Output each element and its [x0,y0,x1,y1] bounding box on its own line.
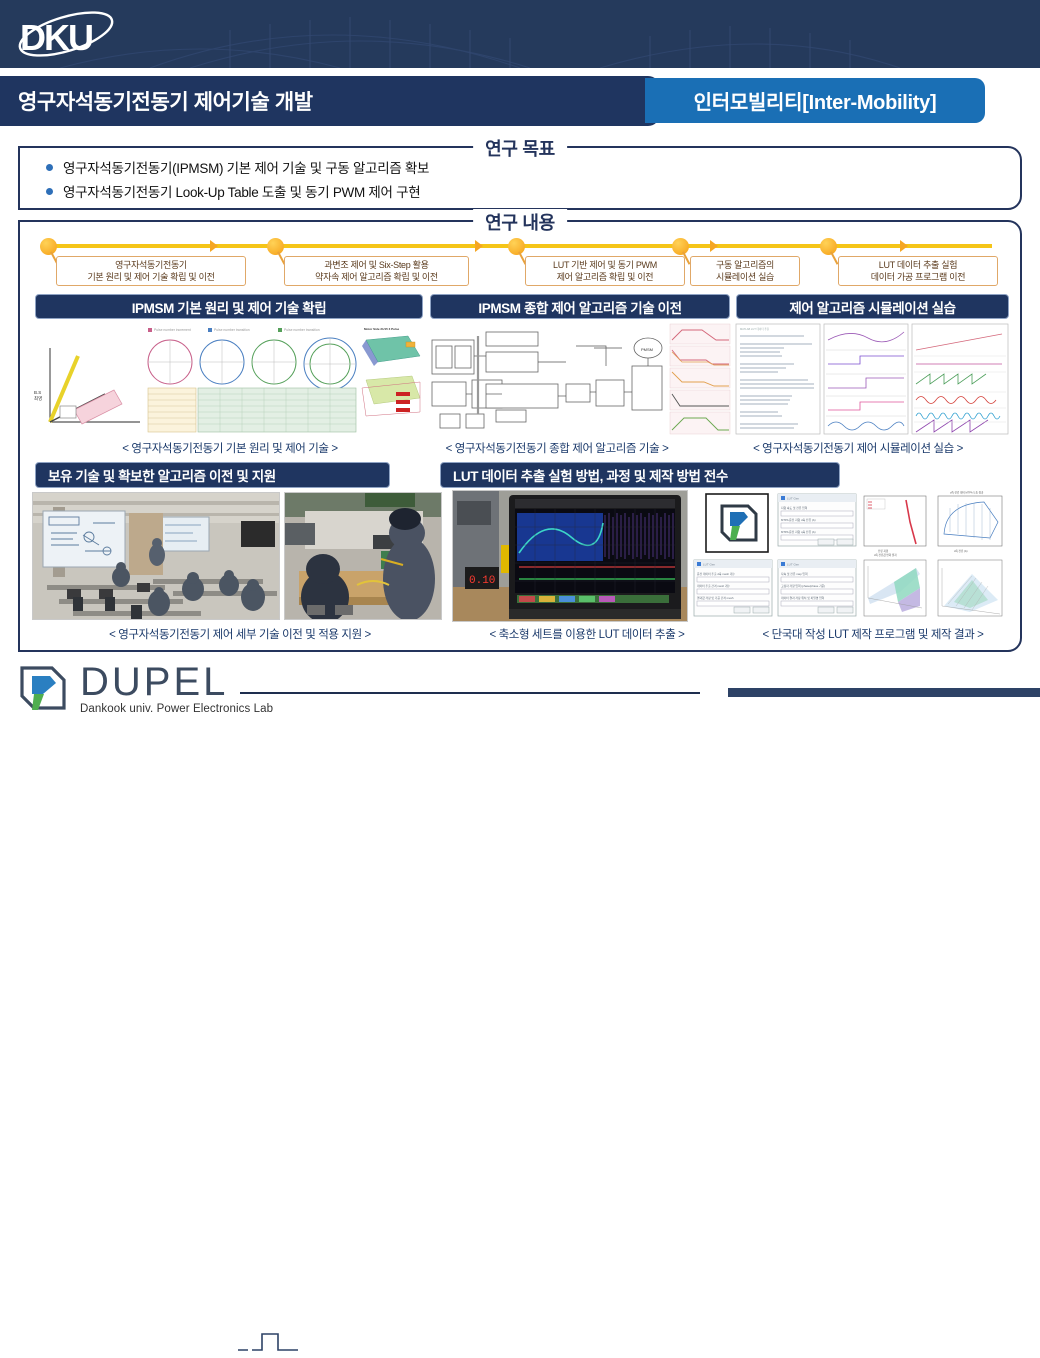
timeline-arrow-icon [710,240,718,252]
vector-and-surface-figures: B.S 최영 Pulse number increment [30,322,423,436]
timeline-card-line2: 약자속 제어 알고리즘 확립 및 이전 [315,271,438,283]
timeline-card: LUT 기반 제어 및 동기 PWM 제어 알고리즘 확립 및 이전 [525,256,685,286]
lab-bench-photo [285,493,442,620]
mtpa-analysis-plots: 전류 지령d축 전류값 변화 결과 d축 전류 대비 MTPA 도출 결과d축 … [858,488,1010,622]
caption-simulation: < 영구자석동기전동기 제어 시뮬레이션 실습 > [708,440,1008,456]
timeline-card-line1: 과변조 제어 및 Six-Step 활용 [324,259,428,271]
timeline-node [40,238,57,255]
svg-text:LUT Gen: LUT Gen [703,563,715,567]
footer-step-line [238,1330,298,1358]
page-title-plate: 영구자석동기전동기 제어기술 개발 [0,76,660,126]
objective-text: 영구자석동기전동기(IPMSM) 기본 제어 기술 및 구동 알고리즘 확보 [63,157,429,177]
svg-text:d축 전류 (A): d축 전류 (A) [954,549,968,553]
svg-text:B.S: B.S [34,390,41,395]
timeline-card-line2: 데이터 가공 프로그램 이전 [871,271,965,283]
list-item: 영구자석동기전동기 Look-Up Table 도출 및 동기 PWM 제어 구… [46,181,1020,201]
panel-header-label: 보유 기술 및 확보한 알고리즘 이전 및 지원 [48,465,276,485]
panel-header-label: IPMSM 기본 원리 및 제어 기술 확립 [132,297,327,317]
objectives-section-label: 연구 목표 [473,135,567,161]
svg-text:지령 속도 및 전류 입력: 지령 속도 및 전류 입력 [781,506,808,510]
dupel-subtitle: Dankook univ. Power Electronics Lab [80,703,273,715]
svg-text:DKU: DKU [20,17,92,58]
caption-lut-extraction: < 축소형 세트를 이용한 LUT 데이터 추출 > [432,626,742,642]
figure-ipmsm-basics: B.S 최영 Pulse number increment [30,322,423,436]
svg-text:LUT Gen: LUT Gen [787,563,799,567]
dupel-text-block: DUPEL Dankook univ. Power Electronics La… [80,662,273,715]
svg-text:d축 전류값 변화 결과: d축 전류값 변화 결과 [874,553,897,557]
photo-oscilloscope: 0.10 [452,490,688,622]
project-badge-label: 인터모빌리티[Inter-Mobility] [694,86,937,115]
svg-text:0.10: 0.10 [469,575,495,587]
timeline-card-line2: 제어 알고리즘 확립 및 이전 [557,271,654,283]
decorative-arc-pattern [0,0,1040,68]
dupel-brand: DUPEL Dankook univ. Power Electronics La… [14,662,273,715]
svg-text:Motor Side 21/15 3 Pulse: Motor Side 21/15 3 Pulse [364,327,400,331]
oscilloscope-photo: 0.10 [453,491,688,622]
svg-text:MATLAB LUT 데이터 추출: MATLAB LUT 데이터 추출 [740,327,770,331]
roadmap-timeline: 영구자석동기전동기 기본 원리 및 제어 기술 확립 및 이전 과변조 제어 및… [20,232,1024,290]
svg-text:PMSM: PMSM [641,347,653,352]
bullet-icon [46,164,53,171]
svg-text:데이터 결과 저장 위치 및 파일명 입력: 데이터 결과 저장 위치 및 파일명 입력 [781,596,825,600]
caption-ipmsm-algorithm: < 영구자석동기전동기 종합 제어 알고리즘 기술 > [412,440,702,456]
timeline-card: LUT 데이터 추출 실험 데이터 가공 프로그램 이전 [838,256,998,286]
panel-header-ipmsm-algorithm: IPMSM 종합 제어 알고리즘 기술 이전 [430,294,730,319]
photo-lecture-room [32,492,280,620]
svg-text:전류 지령: 전류 지령 [878,549,889,553]
panel-header-label: 제어 알고리즘 시뮬레이션 실습 [789,297,955,317]
top-header-band: DKU [0,0,1040,68]
figure-control-block-diagram: PMSM [426,322,731,436]
lecture-room-photo [33,493,280,620]
timeline-stem [830,252,838,265]
research-contents-section: 연구 내용 영구자석동기전동기 기본 원리 및 제어 기술 확립 및 이전 과변… [18,220,1022,652]
timeline-card-line1: 영구자석동기전동기 [115,259,187,271]
svg-text:Pulse number transition: Pulse number transition [214,328,250,332]
research-objectives-section: 연구 목표 영구자석동기전동기(IPMSM) 기본 제어 기술 및 구동 알고리… [18,146,1022,210]
caption-lut-program: < 단국대 작성 LUT 제작 프로그램 및 제작 결과 > [732,626,1014,642]
svg-text:결과값 저장 및 가공 간격 mesh: 결과값 저장 및 가공 간격 mesh [697,596,734,600]
project-badge: 인터모빌리티[Inter-Mobility] [645,78,985,123]
panel-header-simulation: 제어 알고리즘 시뮬레이션 실습 [736,294,1009,319]
script-and-plots: MATLAB LUT 데이터 추출 [734,322,1010,436]
figure-mtpa-plots: 전류 지령d축 전류값 변화 결과 d축 전류 대비 MTPA 도출 결과d축 … [858,488,1010,622]
dupel-brand-name: DUPEL [80,662,273,702]
slide-title-row: 영구자석동기전동기 제어기술 개발 인터모빌리티[Inter-Mobility] [0,76,1040,126]
svg-text:자속 및 전류 map 입력: 자속 및 전류 map 입력 [781,572,808,576]
svg-text:Pulse number increment: Pulse number increment [154,328,191,332]
figure-lut-program: LUT Gen 지령 속도 및 전류 입력 MTPA 운전 지령 d축 전류 (… [692,490,864,622]
panel-header-ipmsm-basics: IPMSM 기본 원리 및 제어 기술 확립 [35,294,423,319]
timeline-card-line1: LUT 데이터 추출 실험 [879,259,957,271]
timeline-card-line1: 구동 알고리즘의 [716,259,774,271]
block-diagram-and-waveforms: PMSM [426,322,731,436]
photo-lab-bench [284,492,442,620]
svg-text:LUT Gen: LUT Gen [787,497,799,501]
timeline-node [267,238,284,255]
timeline-node [820,238,837,255]
timeline-card: 영구자석동기전동기 기본 원리 및 제어 기술 확립 및 이전 [56,256,246,286]
dupel-icon-and-dialogs: LUT Gen 지령 속도 및 전류 입력 MTPA 운전 지령 d축 전류 (… [692,490,864,622]
figure-simulation-practice: MATLAB LUT 데이터 추출 [734,322,1010,436]
panel-header-label: IPMSM 종합 제어 알고리즘 기술 이전 [478,297,681,317]
timeline-card: 과변조 제어 및 Six-Step 활용 약자속 제어 알고리즘 확립 및 이전 [284,256,469,286]
panel-header-lut-extraction: LUT 데이터 추출 실험 방법, 과정 및 제작 방법 전수 [440,462,840,488]
timeline-node [672,238,689,255]
timeline-arrow-icon [900,240,908,252]
panel-header-tech-transfer: 보유 기술 및 확보한 알고리즘 이전 및 지원 [35,462,390,488]
svg-text:Pulse number transition: Pulse number transition [284,328,320,332]
svg-text:d축 전류 대비 MTPA 도출 결과: d축 전류 대비 MTPA 도출 결과 [950,491,984,495]
timeline-card-line1: LUT 기반 제어 및 동기 PWM [553,259,657,271]
dupel-logo-icon [14,662,72,714]
footer-thick-bar [728,688,1040,697]
caption-ipmsm-basics: < 영구자석동기전동기 기본 원리 및 제어 기술 > [60,440,400,456]
objective-text: 영구자석동기전동기 Look-Up Table 도출 및 동기 PWM 제어 구… [63,181,420,201]
svg-text:고정자 저항 입력 (phase/phase 기준): 고정자 저항 입력 (phase/phase 기준) [781,584,825,588]
page-title: 영구자석동기전동기 제어기술 개발 [18,86,313,116]
bullet-icon [46,188,53,195]
dku-logo: DKU [14,8,124,60]
svg-text:데이터 추출 간격 mesh 개수: 데이터 추출 간격 mesh 개수 [697,584,731,588]
timeline-card: 구동 알고리즘의 시뮬레이션 실습 [690,256,800,286]
svg-text:최영: 최영 [34,395,42,402]
panel-header-label: LUT 데이터 추출 실험 방법, 과정 및 제작 방법 전수 [453,465,728,485]
footer-thin-rule [240,692,700,694]
caption-tech-transfer: < 영구자석동기전동기 제어 세부 기술 이전 및 적용 지원 > [40,626,440,642]
svg-text:MTPA 운전 지령 q축 전류 (A): MTPA 운전 지령 q축 전류 (A) [781,530,816,534]
svg-text:MTPA 운전 지령 d축 전류 (A): MTPA 운전 지령 d축 전류 (A) [781,518,816,522]
timeline-arrow-icon [475,240,483,252]
timeline-arrow-icon [210,240,218,252]
timeline-node [508,238,525,255]
timeline-card-line2: 기본 원리 및 제어 기술 확립 및 이전 [87,271,214,283]
timeline-card-line2: 시뮬레이션 실습 [716,271,774,283]
svg-text:운전 데이터 추출 d축 mesh 개수: 운전 데이터 추출 d축 mesh 개수 [697,572,735,576]
